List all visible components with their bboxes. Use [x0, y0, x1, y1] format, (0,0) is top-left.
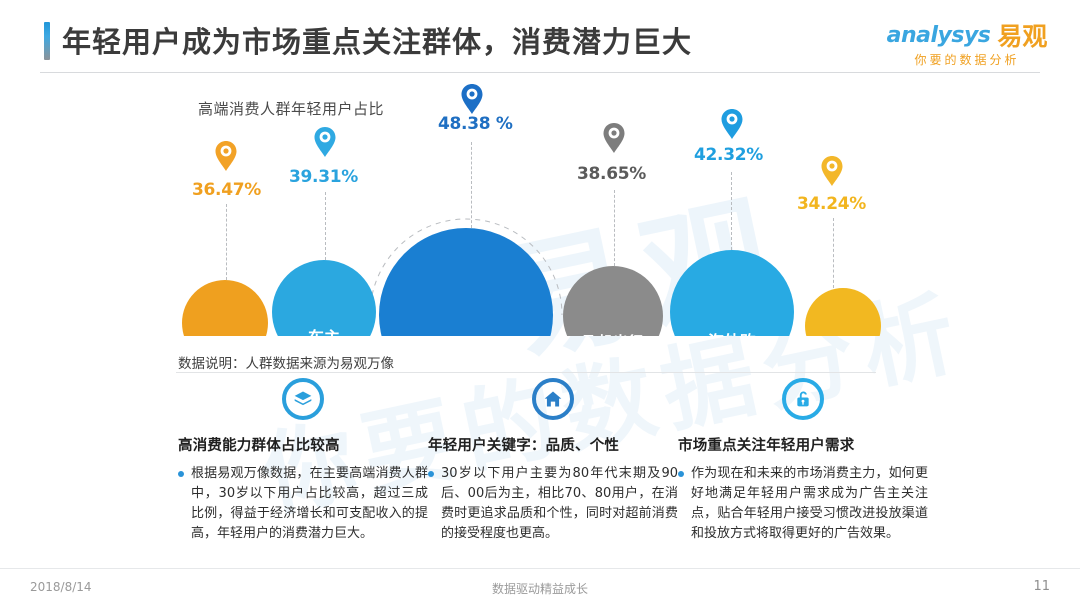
- bubble-label: 车主: [308, 324, 340, 336]
- bubble-value-label: 42.32%: [694, 145, 763, 165]
- bubble-value-label: 48.38 %: [438, 114, 513, 134]
- insight-columns: 高消费能力群体占比较高根据易观万像数据，在主要高端消费人群中，30岁以下用户占比…: [0, 378, 1080, 568]
- map-pin-icon: [214, 140, 238, 172]
- logo-en-text: analysys: [887, 23, 991, 48]
- chart-data-note: 数据说明：人群数据来源为易观万像: [178, 352, 394, 372]
- page-title: 年轻用户成为市场重点关注群体，消费潜力巨大: [62, 19, 692, 61]
- bubble-value-label: 38.65%: [577, 164, 646, 184]
- bullet-dot-icon: [678, 471, 684, 477]
- insight-column-body: 根据易观万像数据，在主要高端消费人群中，30岁以下用户占比较高，超过三成比例，得…: [178, 464, 428, 544]
- insight-column-title: 市场重点关注年轻用户需求: [678, 434, 928, 455]
- logo-cn-text: 易观: [997, 17, 1047, 53]
- slide-header: 年轻用户成为市场重点关注群体，消费潜力巨大 analysys 易观 你要的数据分…: [0, 0, 1080, 76]
- insight-column-title: 年轻用户关键字：品质、个性: [428, 434, 678, 455]
- map-pin-icon: [460, 83, 484, 115]
- home-icon: [532, 378, 574, 420]
- chart-plot-area: 旅游36.47%车主39.31%奢侈品电商48.38 %飞机出行38.65%海外…: [0, 76, 1080, 336]
- bubble-label: 旅游: [210, 333, 240, 336]
- layers-icon: [282, 378, 324, 420]
- analysys-logo: analysys 易观 你要的数据分析: [882, 20, 1052, 72]
- insight-column-2: 市场重点关注年轻用户需求作为现在和未来的市场消费主力，如何更好地满足年轻用户需求…: [678, 378, 928, 544]
- insight-column-text: 根据易观万像数据，在主要高端消费人群中，30岁以下用户占比较高，超过三成比例，得…: [191, 464, 428, 544]
- map-pin-icon: [313, 126, 337, 158]
- bullet-dot-icon: [178, 471, 184, 477]
- footer-divider: [0, 568, 1080, 569]
- insight-column-text: 作为现在和未来的市场消费主力，如何更好地满足年轻用户需求成为广告主关注点，贴合年…: [691, 464, 928, 544]
- footer-page-number: 11: [1033, 579, 1050, 594]
- bubble-connector-line: [226, 204, 227, 280]
- logo-wordmark: analysys 易观: [882, 20, 1052, 50]
- section-divider: [176, 372, 876, 373]
- insight-column-body: 30岁以下用户主要为80年代末期及90后、00后为主，相比70、80用户，在消费…: [428, 464, 678, 544]
- map-pin-icon: [602, 122, 626, 154]
- bubble-connector-line: [833, 218, 834, 288]
- bullet-dot-icon: [428, 471, 434, 477]
- insight-column-text: 30岁以下用户主要为80年代末期及90后、00后为主，相比70、80用户，在消费…: [441, 464, 678, 544]
- bubble-value-label: 36.47%: [192, 180, 261, 200]
- insight-column-0: 高消费能力群体占比较高根据易观万像数据，在主要高端消费人群中，30岁以下用户占比…: [178, 378, 428, 544]
- slide-footer: 2018/8/14 数据驱动精益成长 11: [0, 568, 1080, 608]
- bubble-chart: 高端消费人群年轻用户占比 旅游36.47%车主39.31%奢侈品电商48.38 …: [0, 76, 1080, 336]
- bubble-label: 海外购: [708, 328, 756, 336]
- logo-tagline: 你要的数据分析: [882, 51, 1052, 68]
- map-pin-icon: [720, 108, 744, 140]
- title-accent-bar: [44, 22, 50, 60]
- bubble-label: 飞机出行: [583, 331, 643, 336]
- slide-root: 易观 你要的数据分析 年轻用户成为市场重点关注群体，消费潜力巨大 analysy…: [0, 0, 1080, 608]
- insight-column-1: 年轻用户关键字：品质、个性30岁以下用户主要为80年代末期及90后、00后为主，…: [428, 378, 678, 544]
- insight-column-title: 高消费能力群体占比较高: [178, 434, 428, 455]
- insight-column-body: 作为现在和未来的市场消费主力，如何更好地满足年轻用户需求成为广告主关注点，贴合年…: [678, 464, 928, 544]
- bubble-connector-line: [471, 142, 472, 228]
- bubble-connector-line: [614, 190, 615, 266]
- footer-slogan: 数据驱动精益成长: [0, 580, 1080, 597]
- bubble-connector-line: [325, 192, 326, 260]
- bubble-value-label: 34.24%: [797, 194, 866, 214]
- lock-icon: [782, 378, 824, 420]
- bubble-connector-line: [731, 172, 732, 250]
- map-pin-icon: [820, 155, 844, 187]
- header-divider: [40, 72, 1040, 73]
- bubble-value-label: 39.31%: [289, 167, 358, 187]
